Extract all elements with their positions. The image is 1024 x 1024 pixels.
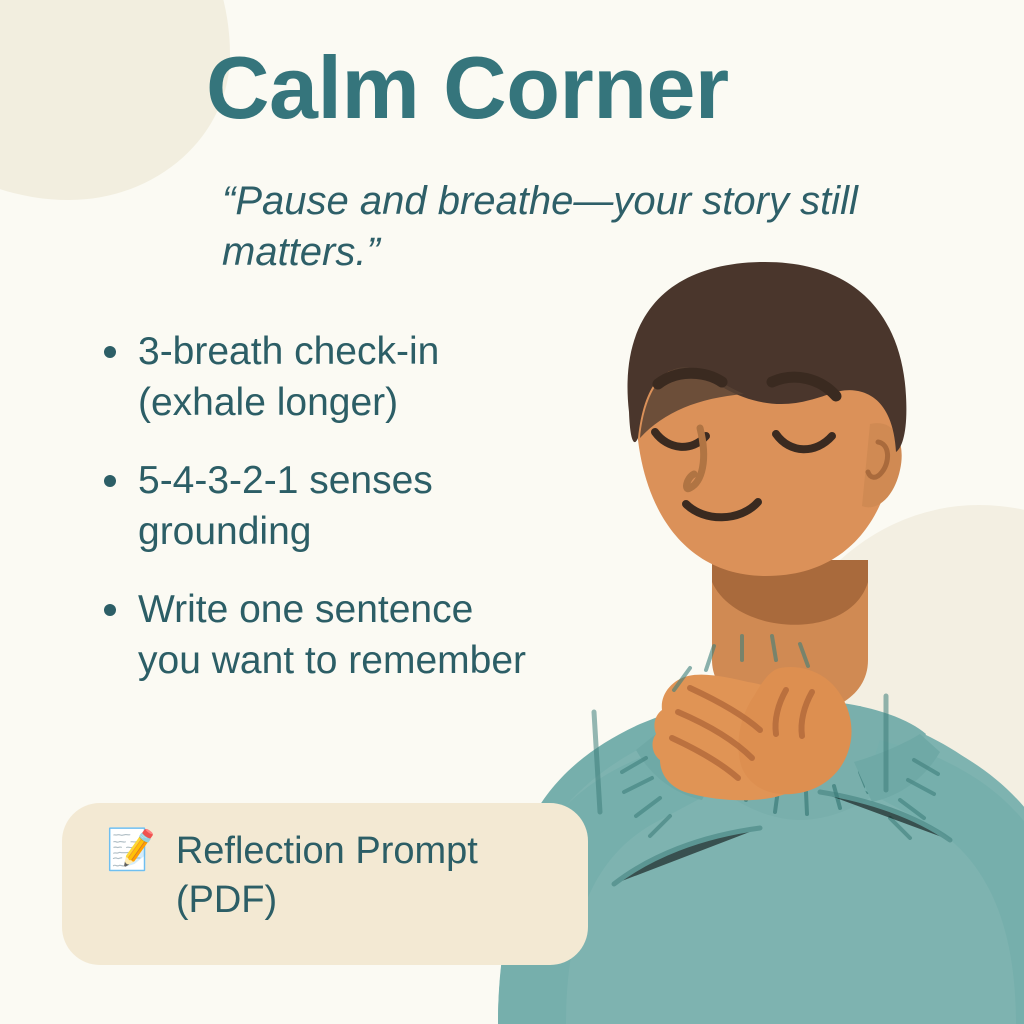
bullet-dot-icon: [104, 604, 116, 616]
subtitle-quote: “Pause and breathe—your story still matt…: [222, 176, 862, 278]
list-item-label: Write one sentence you want to remember: [138, 588, 526, 682]
memo-icon: 📝: [106, 829, 156, 871]
list-item-label: 5-4-3-2-1 senses grounding: [138, 459, 433, 553]
page-title: Calm Corner: [206, 42, 729, 134]
bullet-dot-icon: [104, 346, 116, 358]
reflection-prompt-label[interactable]: Reflection Prompt (PDF): [176, 827, 560, 924]
calm-corner-poster: Calm Corner “Pause and breathe—your stor…: [0, 0, 1024, 1024]
list-item-label: 3-breath check-in (exhale longer): [138, 330, 439, 424]
list-item: Write one sentence you want to remember: [96, 584, 536, 687]
reflection-prompt-card[interactable]: 📝 Reflection Prompt (PDF): [62, 803, 588, 965]
list-item: 5-4-3-2-1 senses grounding: [96, 455, 536, 558]
practice-list: 3-breath check-in (exhale longer) 5-4-3-…: [96, 326, 536, 713]
bullet-dot-icon: [104, 475, 116, 487]
list-item: 3-breath check-in (exhale longer): [96, 326, 536, 429]
